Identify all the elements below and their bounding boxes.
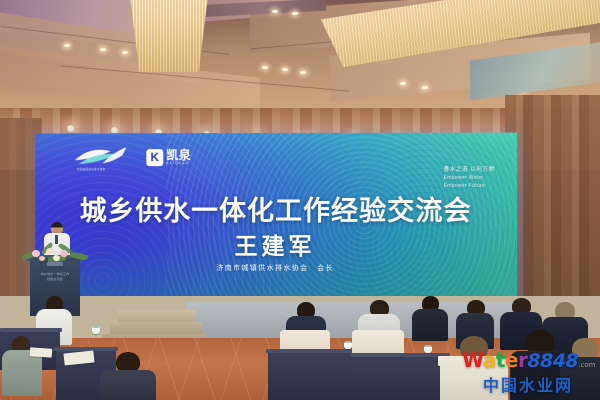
- teacup: [344, 342, 352, 349]
- audience-table-top: [266, 349, 354, 353]
- audience-table-top: [0, 328, 62, 332]
- downlight: [300, 71, 306, 74]
- stage-spotlight: [66, 124, 75, 133]
- flower: [53, 255, 60, 261]
- leaf: [70, 251, 89, 262]
- teacup: [424, 346, 432, 353]
- audience-member: [560, 338, 600, 400]
- podium-sign: 城乡供水一体化工作 经验交流会: [30, 272, 80, 282]
- person-body: [100, 370, 156, 400]
- conference-photo: 中国城镇供水排水协会 K 凯泉 KAIQUAN 善水之道 以利万物 Empowe…: [0, 0, 600, 400]
- speaker-name: 王建军: [35, 227, 517, 261]
- flower: [60, 250, 68, 257]
- downlight: [272, 10, 278, 13]
- cuwa-swoosh-logo-icon: 中国城镇供水排水协会: [73, 146, 129, 168]
- speaker-affiliation: 济南市城镇供水排水协会 会长: [35, 263, 517, 273]
- downlight: [400, 82, 406, 85]
- downlight: [122, 51, 128, 54]
- downlight: [292, 12, 298, 15]
- podium-sign-line2: 经验交流会: [30, 277, 80, 282]
- chandelier-crystal-texture: [130, 0, 208, 72]
- kaiquan-logo: K 凯泉 KAIQUAN: [146, 149, 191, 166]
- person-body: [560, 357, 600, 400]
- teacup: [92, 327, 100, 334]
- swoosh-logo-subtitle: 中国城镇供水排水协会: [77, 167, 106, 171]
- downlight: [282, 68, 288, 71]
- kaiquan-mark-icon: K: [146, 149, 163, 166]
- slogan-english-line1: Empower Water: [444, 175, 495, 183]
- stage-step: [110, 322, 202, 334]
- audience-table-top: [350, 353, 450, 357]
- person-body: [440, 356, 508, 400]
- audience-member: [412, 296, 448, 340]
- audience-member: [440, 336, 508, 400]
- screen-slogan: 善水之道 以利万物 Empower Water Empower Future: [444, 165, 495, 190]
- wall-right-shading: [505, 95, 600, 325]
- downlight: [100, 48, 106, 51]
- audience-table: [268, 352, 352, 400]
- slogan-chinese: 善水之道 以利万物: [444, 165, 495, 173]
- person-body: [2, 350, 42, 396]
- speaker-tie: [55, 235, 58, 244]
- kaiquan-chinese-name: 凯泉: [166, 149, 191, 161]
- audience-table: [352, 356, 448, 400]
- downlight: [64, 44, 70, 47]
- audience-member: [2, 336, 42, 396]
- screen-logo-row: 中国城镇供水排水协会 K 凯泉 KAIQUAN: [73, 146, 191, 168]
- stage-step: [118, 310, 196, 322]
- audience-member: [100, 352, 156, 400]
- kaiquan-english-name: KAIQUAN: [166, 162, 191, 165]
- podium-flower-arrangement: [22, 244, 88, 266]
- flower: [39, 256, 45, 261]
- downlight: [422, 86, 428, 89]
- downlight: [262, 66, 268, 69]
- event-title: 城乡供水一体化工作经验交流会: [35, 189, 517, 228]
- flower: [46, 248, 54, 255]
- led-backdrop-screen: 中国城镇供水排水协会 K 凯泉 KAIQUAN 善水之道 以利万物 Empowe…: [35, 133, 517, 306]
- document-paper: [30, 347, 53, 358]
